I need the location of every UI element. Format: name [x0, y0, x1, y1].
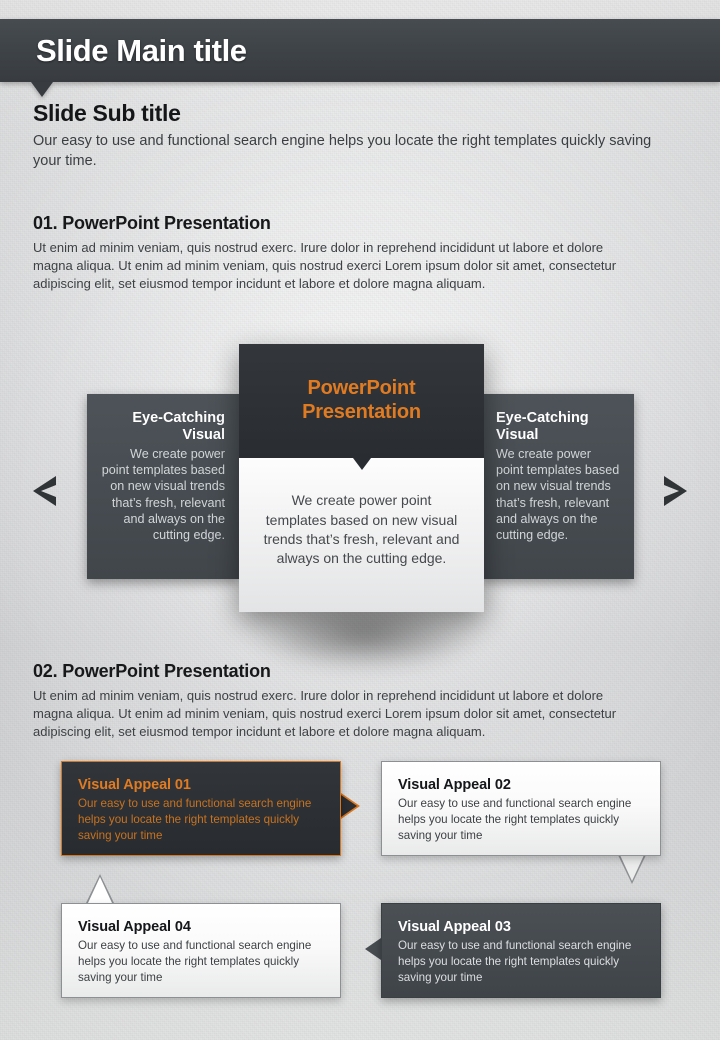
section-02: 02. PowerPoint Presentation Ut enim ad m… — [33, 661, 673, 740]
section-01-heading: 01. PowerPoint Presentation — [33, 213, 673, 234]
chevron-left-icon — [31, 474, 59, 508]
carousel-card-right[interactable]: Eye-Catching Visual We create power poin… — [482, 394, 634, 579]
carousel-card-left-title: Eye-Catching Visual — [101, 410, 225, 444]
slide-sub-title: Slide Sub title — [33, 101, 673, 127]
visual-appeal-04-body: Our easy to use and functional search en… — [78, 938, 324, 985]
carousel-card-right-title: Eye-Catching Visual — [496, 410, 620, 444]
visual-appeal-01-card[interactable]: Visual Appeal 01 Our easy to use and fun… — [61, 761, 341, 856]
visual-appeal-02-tail — [620, 855, 644, 881]
section-01-body: Ut enim ad minim veniam, quis nostrud ex… — [33, 239, 645, 292]
carousel-card-center[interactable]: PowerPoint Presentation We create power … — [239, 344, 484, 612]
carousel-next-button[interactable] — [658, 470, 692, 512]
carousel-prev-button[interactable] — [28, 470, 62, 512]
visual-appeal-03-body: Our easy to use and functional search en… — [398, 938, 644, 985]
visual-appeal-01-title: Visual Appeal 01 — [78, 777, 324, 793]
carousel-card-left-body: We create power point templates based on… — [101, 446, 225, 544]
header-pointer-tail — [31, 82, 53, 97]
carousel-card-center-notch — [353, 458, 371, 470]
section-01: 01. PowerPoint Presentation Ut enim ad m… — [33, 213, 673, 292]
section-02-heading: 02. PowerPoint Presentation — [33, 661, 673, 682]
visual-appeal-04-tail — [88, 877, 112, 903]
slide-canvas: Slide Main title Slide Sub title Our eas… — [0, 0, 720, 1040]
subtitle-block: Slide Sub title Our easy to use and func… — [33, 101, 673, 172]
visual-appeal-02-title: Visual Appeal 02 — [398, 777, 644, 793]
visual-appeal-03-tail — [365, 938, 381, 960]
carousel-card-left[interactable]: Eye-Catching Visual We create power poin… — [87, 394, 239, 579]
visual-appeal-02-body: Our easy to use and functional search en… — [398, 796, 644, 843]
visual-appeal-04-title: Visual Appeal 04 — [78, 919, 324, 935]
chevron-right-icon — [661, 474, 689, 508]
visual-appeal-01-body: Our easy to use and functional search en… — [78, 796, 324, 843]
carousel-card-center-body: We create power point templates based on… — [263, 491, 460, 568]
carousel-card-center-title: PowerPoint Presentation — [239, 377, 484, 424]
carousel-card-center-panel: We create power point templates based on… — [239, 458, 484, 612]
visual-appeal-03-card[interactable]: Visual Appeal 03 Our easy to use and fun… — [381, 903, 661, 998]
section-02-body: Ut enim ad minim veniam, quis nostrud ex… — [33, 687, 645, 740]
visual-appeal-03-title: Visual Appeal 03 — [398, 919, 644, 935]
visual-appeal-04-card[interactable]: Visual Appeal 04 Our easy to use and fun… — [61, 903, 341, 998]
carousel-card-right-body: We create power point templates based on… — [496, 446, 620, 544]
slide-sub-description: Our easy to use and functional search en… — [33, 131, 661, 172]
carousel-card-center-header: PowerPoint Presentation — [239, 344, 484, 458]
slide-main-title: Slide Main title — [36, 33, 247, 69]
visual-appeal-02-card[interactable]: Visual Appeal 02 Our easy to use and fun… — [381, 761, 661, 856]
slide-header-bar: Slide Main title — [0, 19, 720, 82]
visual-appeal-01-tail — [341, 795, 357, 817]
